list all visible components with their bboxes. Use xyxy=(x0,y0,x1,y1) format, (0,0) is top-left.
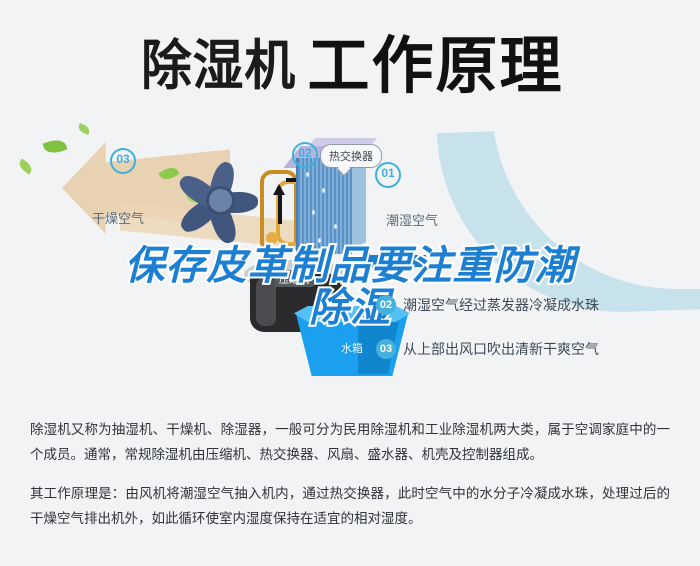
title-part-primary: 除湿机 xyxy=(141,21,296,100)
callout-badge-01: 01 xyxy=(375,162,401,188)
body-copy: 除湿机又称为抽湿机、干燥机、除湿器，一般可分为民用除湿机和工业除湿机两大类，属于… xyxy=(30,418,670,546)
air-inlet-arrow xyxy=(352,252,426,270)
callout-badge-03: 03 xyxy=(110,148,136,174)
step-badge-02: 02 xyxy=(376,295,396,315)
callout-label-dry-air: 干燥空气 xyxy=(92,208,144,227)
compressor-label: 压缩机 xyxy=(274,270,314,287)
heat-exchanger-illustration xyxy=(296,158,366,254)
step-text-03: 从上部出风口吹出清新干爽空气 xyxy=(403,339,599,359)
steps-list: 02 潮湿空气经过蒸发器冷凝成水珠 03 从上部出风口吹出清新干爽空气 xyxy=(376,290,676,364)
step-text-02: 潮湿空气经过蒸发器冷凝成水珠 xyxy=(403,295,599,315)
step-item-02: 02 潮湿空气经过蒸发器冷凝成水珠 xyxy=(376,290,676,320)
leaf-icon xyxy=(17,159,34,175)
callout-bubble-heat-exchanger: 热交换器 xyxy=(320,144,382,168)
coil-joint xyxy=(266,232,278,244)
title-part-secondary: 工作原理 xyxy=(307,15,563,105)
page-title: 除湿机 工作原理 xyxy=(0,22,700,98)
inlet-arrow-shaft xyxy=(368,255,426,267)
fan-hub xyxy=(206,186,235,215)
body-paragraph-1: 除湿机又称为抽湿机、干燥机、除湿器，一般可分为民用除湿机和工业除湿机两大类，属于… xyxy=(30,418,670,468)
callout-badge-02: 02 xyxy=(292,142,318,168)
callout-label-humid-air: 潮湿空气 xyxy=(386,210,438,229)
inlet-arrow-head-icon xyxy=(352,250,370,272)
flow-arrow-stem xyxy=(278,194,282,224)
compressor-highlight xyxy=(256,278,276,326)
infographic-page: 除湿机 工作原理 xyxy=(0,0,700,566)
leaf-icon xyxy=(43,137,68,156)
body-paragraph-2: 其工作原理是：由风机将潮湿空气抽入机内，通过热交换器，此时空气中的水分子冷凝成水… xyxy=(30,482,670,532)
step-badge-03: 03 xyxy=(376,339,396,359)
flow-arrow-up-icon xyxy=(273,184,285,195)
leaf-icon xyxy=(77,123,91,135)
step-item-03: 03 从上部出风口吹出清新干爽空气 xyxy=(376,334,676,364)
